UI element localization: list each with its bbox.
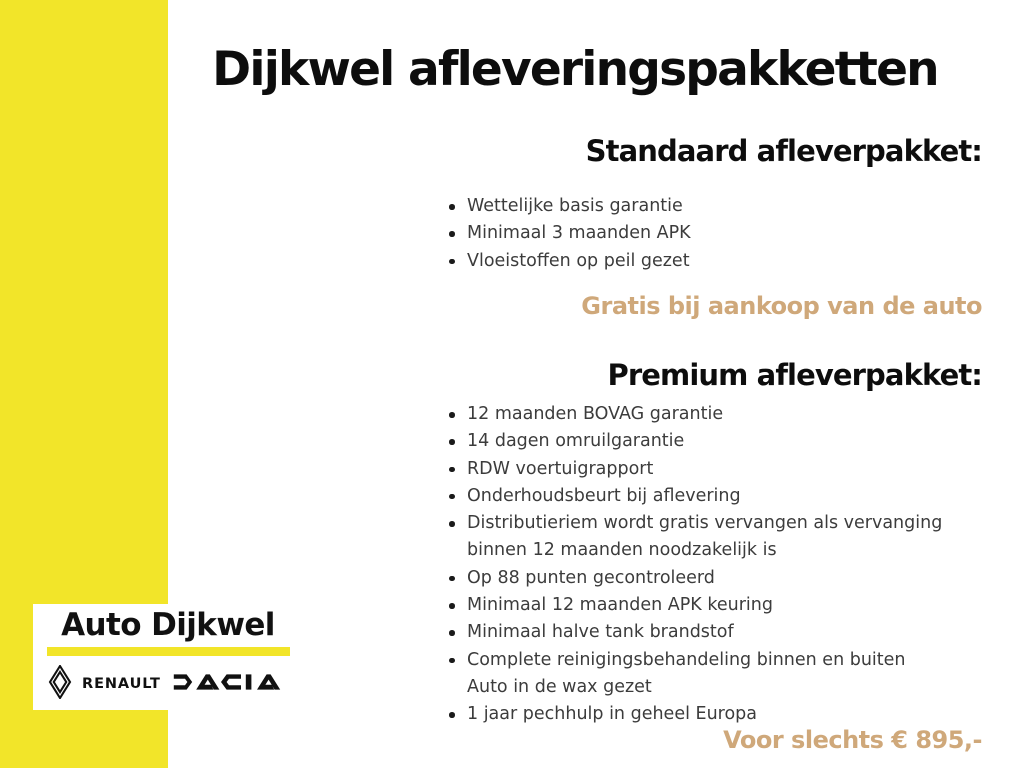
list-item-label: Minimaal 3 maanden APK: [467, 223, 691, 243]
list-item: Wettelijke basis garantie: [448, 193, 691, 220]
list-item-label: 1 jaar pechhulp in geheel Europa: [467, 704, 757, 724]
list-item-label: 14 dagen omruilgarantie: [467, 431, 684, 451]
dealer-name: Auto Dijkwel: [43, 610, 293, 642]
brand-lockup-row: RENAULT: [43, 665, 293, 704]
list-item: 1 jaar pechhulp in geheel Europa: [448, 701, 942, 728]
dealer-logo-card: Auto Dijkwel RENAULT: [33, 604, 303, 710]
standard-package-list: Wettelijke basis garantie Minimaal 3 maa…: [448, 193, 691, 275]
list-item: 14 dagen omruilgarantie: [448, 428, 942, 455]
list-item-label: Op 88 punten gecontroleerd: [467, 568, 715, 588]
premium-package-price-note: Voor slechts € 895,-: [723, 726, 982, 754]
list-item: Onderhoudsbeurt bij aflevering: [448, 483, 942, 510]
poster-canvas: Dijkwel afleveringspakketten Standaard a…: [0, 0, 1024, 768]
list-item-label: Auto in de wax gezet: [467, 674, 942, 701]
page-title: Dijkwel afleveringspakketten: [168, 42, 982, 97]
renault-brand-lockup: RENAULT: [45, 665, 161, 704]
list-item-label: binnen 12 maanden noodzakelijk is: [467, 537, 942, 564]
list-item: Distributieriem wordt gratis vervangen a…: [448, 510, 942, 537]
standard-package-free-note: Gratis bij aankoop van de auto: [581, 292, 982, 320]
list-item-continuation: Auto in de wax gezet: [448, 674, 942, 701]
list-item: RDW voertuigrapport: [448, 456, 942, 483]
list-item: Op 88 punten gecontroleerd: [448, 565, 942, 592]
list-item-label: Onderhoudsbeurt bij aflevering: [467, 486, 741, 506]
list-item: Minimaal 3 maanden APK: [448, 220, 691, 247]
renault-diamond-icon: [45, 665, 75, 704]
list-item-label: Minimaal halve tank brandstof: [467, 622, 734, 642]
list-item-label: Complete reinigingsbehandeling binnen en…: [467, 650, 906, 670]
list-item: 12 maanden BOVAG garantie: [448, 401, 942, 428]
premium-package-list: 12 maanden BOVAG garantie 14 dagen omrui…: [448, 401, 942, 729]
standard-package-heading: Standaard afleverpakket:: [586, 134, 982, 168]
list-item: Minimaal 12 maanden APK keuring: [448, 592, 942, 619]
list-item: Vloeistoffen op peil gezet: [448, 248, 691, 275]
list-item-label: RDW voertuigrapport: [467, 459, 653, 479]
dacia-brand-lockup: [173, 672, 291, 697]
list-item: Complete reinigingsbehandeling binnen en…: [448, 647, 942, 674]
list-item-label: Wettelijke basis garantie: [467, 196, 683, 216]
renault-wordmark-label: RENAULT: [82, 676, 161, 692]
dacia-wordmark-icon: [173, 672, 285, 697]
list-item: Minimaal halve tank brandstof: [448, 619, 942, 646]
logo-underline-bar: [47, 647, 290, 656]
list-item-label: Minimaal 12 maanden APK keuring: [467, 595, 773, 615]
list-item-continuation: binnen 12 maanden noodzakelijk is: [448, 537, 942, 564]
list-item-label: Vloeistoffen op peil gezet: [467, 251, 690, 271]
list-item-label: Distributieriem wordt gratis vervangen a…: [467, 513, 942, 533]
list-item-label: 12 maanden BOVAG garantie: [467, 404, 723, 424]
premium-package-heading: Premium afleverpakket:: [608, 358, 982, 392]
